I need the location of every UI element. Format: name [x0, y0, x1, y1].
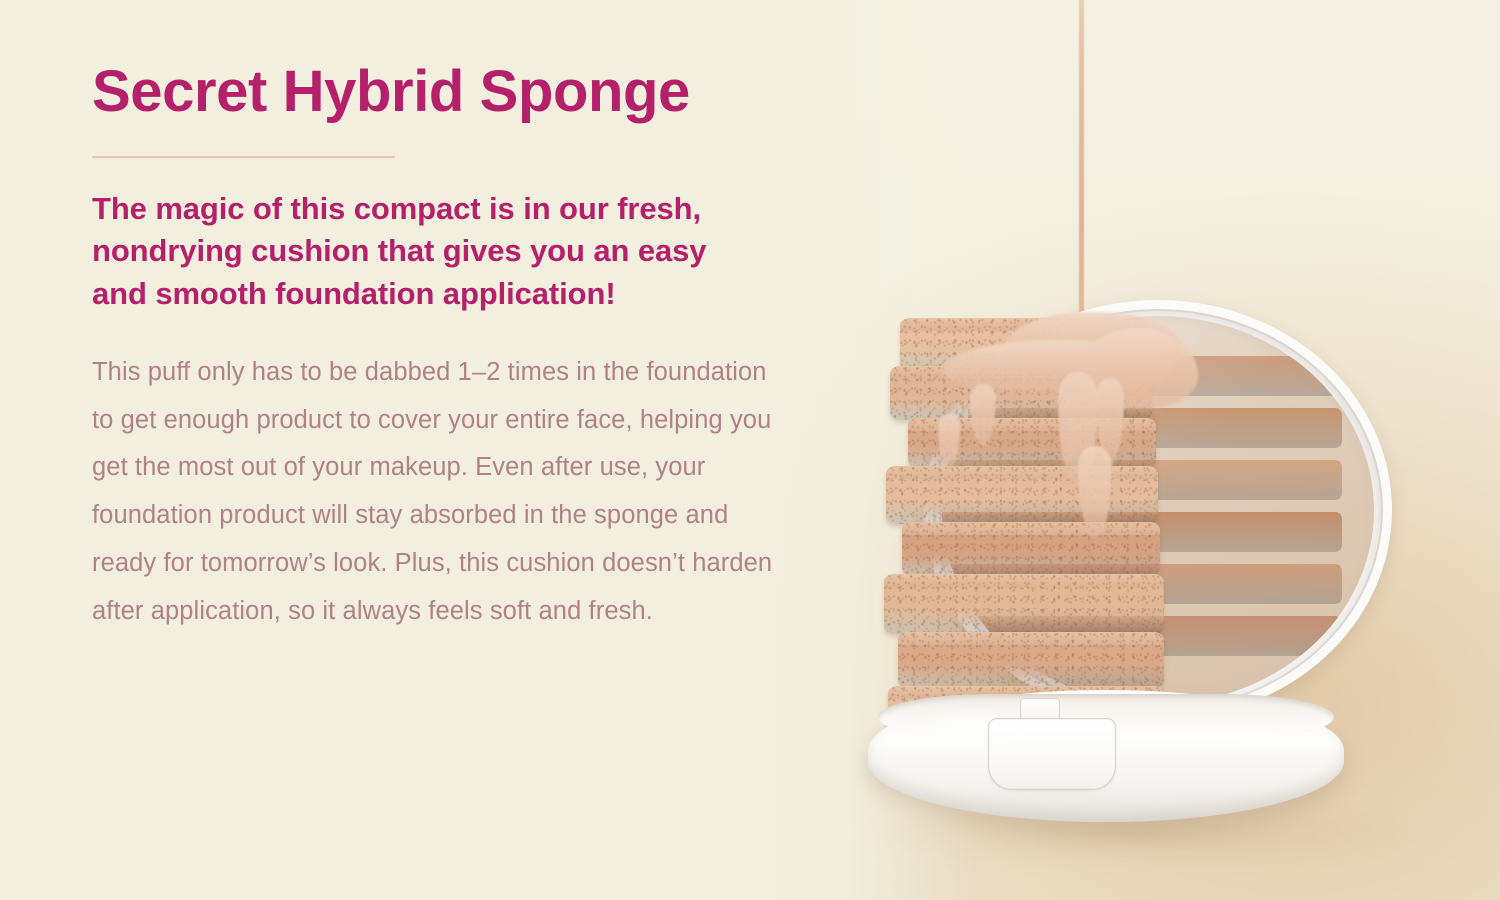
title-divider: [92, 156, 395, 158]
promo-banner: Secret Hybrid Sponge The magic of this c…: [0, 0, 1500, 900]
sponge-disc: [884, 574, 1164, 634]
sponge-disc: [886, 466, 1158, 524]
body-paragraph: This puff only has to be dabbed 1–2 time…: [92, 349, 782, 636]
foundation-pour-stream: [1079, 0, 1084, 326]
subheading: The magic of this compact is in our fres…: [92, 188, 752, 314]
sponge-disc-texture: [902, 522, 1160, 576]
page-title: Secret Hybrid Sponge: [92, 62, 792, 122]
sponge-disc-texture: [884, 574, 1164, 634]
sponge-disc-texture: [898, 632, 1164, 688]
sponge-disc-texture: [886, 466, 1158, 524]
sponge-stack: [882, 318, 1192, 748]
text-column: Secret Hybrid Sponge The magic of this c…: [92, 62, 792, 636]
compact-base: [868, 690, 1344, 822]
product-photo: [860, 0, 1460, 900]
sponge-disc: [898, 632, 1164, 688]
base-clasp: [988, 718, 1116, 790]
sponge-disc: [902, 522, 1160, 576]
